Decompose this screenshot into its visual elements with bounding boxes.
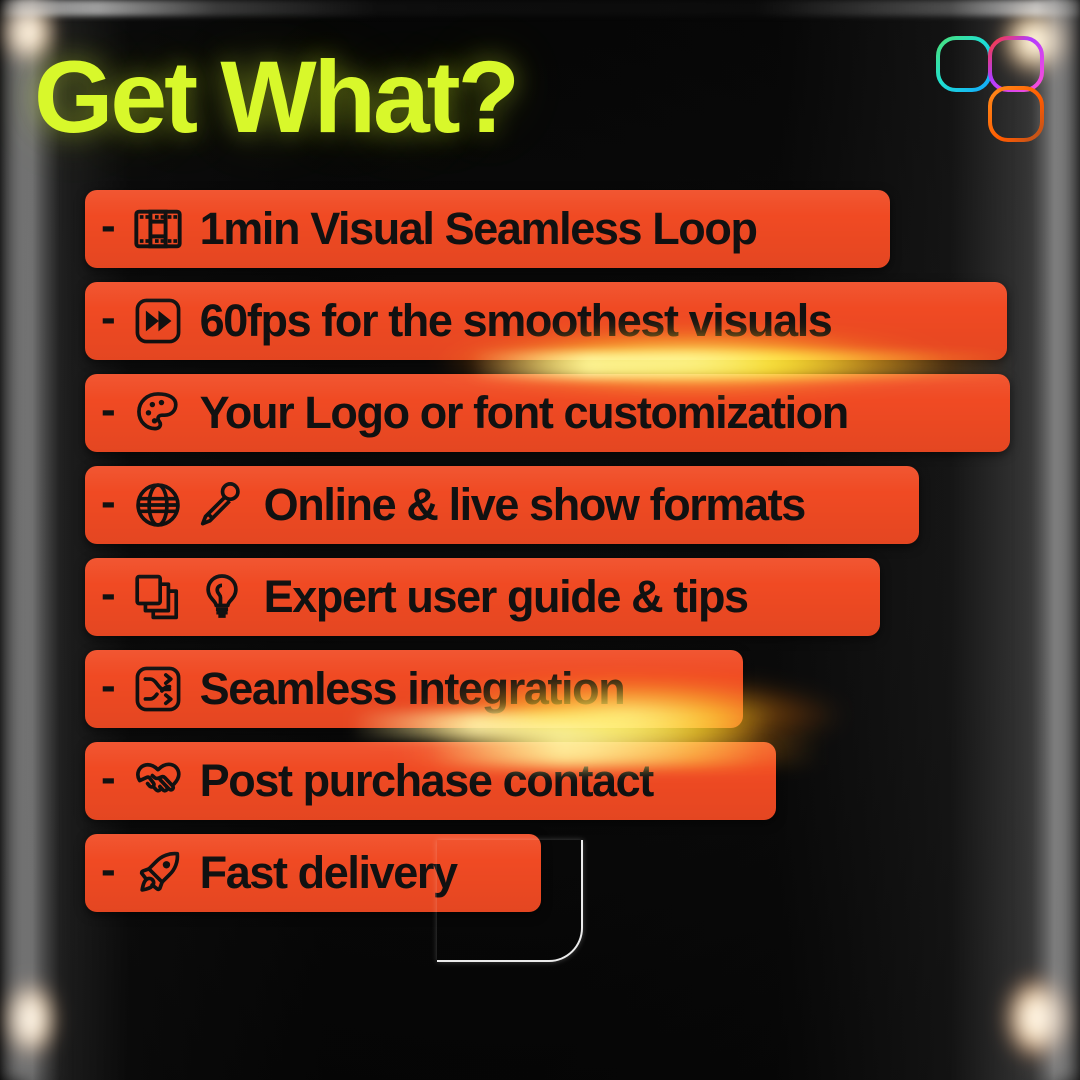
bullet-dash: - xyxy=(101,480,116,524)
feature-row[interactable]: - Post purchase contact xyxy=(85,742,776,820)
feature-label: 1min Visual Seamless Loop xyxy=(200,203,757,255)
logo-square-bottom-right xyxy=(990,88,1042,140)
row-icons xyxy=(132,755,184,807)
top-edge-streak xyxy=(0,0,1080,16)
poster-stage: Get What? xyxy=(0,0,1080,1080)
feature-list: - 1min Visual Seamless Loop- 60fps for t… xyxy=(85,190,1045,926)
feature-row[interactable]: - Seamless integration xyxy=(85,650,743,728)
feature-label: Expert user guide & tips xyxy=(264,571,748,623)
row-icons xyxy=(132,387,184,439)
row-icons xyxy=(132,295,184,347)
brand-logo xyxy=(934,32,1052,150)
glare-bottom-right xyxy=(1006,978,1066,1058)
bullet-dash: - xyxy=(101,664,116,708)
feature-row[interactable]: - Online & live show formats xyxy=(85,466,919,544)
bullet-dash: - xyxy=(101,756,116,800)
feature-label: Online & live show formats xyxy=(264,479,805,531)
feature-row[interactable]: - Your Logo or font customization xyxy=(85,374,1010,452)
glare-bottom-left xyxy=(8,984,54,1054)
handshake-icon xyxy=(132,755,184,807)
microphone-icon xyxy=(196,479,248,531)
page-title: Get What? xyxy=(34,44,517,151)
bullet-dash: - xyxy=(101,572,116,616)
logo-square-top-left xyxy=(938,38,990,90)
feature-label: Seamless integration xyxy=(200,663,625,715)
feature-label: Your Logo or font customization xyxy=(200,387,848,439)
bullet-dash: - xyxy=(101,296,116,340)
feature-label: Post purchase contact xyxy=(200,755,653,807)
feature-row[interactable]: - 1min Visual Seamless Loop xyxy=(85,190,890,268)
bullet-dash: - xyxy=(101,388,116,432)
feature-row[interactable]: - Expert user guide & tips xyxy=(85,558,880,636)
row-icons xyxy=(132,847,184,899)
row-icons xyxy=(132,479,248,531)
palette-icon xyxy=(132,387,184,439)
row-icons xyxy=(132,663,184,715)
copy-pages-icon xyxy=(132,571,184,623)
row-icons xyxy=(132,571,248,623)
film-frames-icon xyxy=(132,203,184,255)
row-icons xyxy=(132,203,184,255)
left-edge-glare-strip xyxy=(0,0,64,1080)
frame-corner-line xyxy=(437,840,583,962)
lightbulb-icon xyxy=(196,571,248,623)
feature-label: 60fps for the smoothest visuals xyxy=(200,295,832,347)
bullet-dash: - xyxy=(101,848,116,892)
fast-forward-icon xyxy=(132,295,184,347)
shuffle-icon xyxy=(132,663,184,715)
feature-label: Fast delivery xyxy=(200,847,457,899)
rocket-icon xyxy=(132,847,184,899)
bullet-dash: - xyxy=(101,204,116,248)
feature-row[interactable]: - 60fps for the smoothest visuals xyxy=(85,282,1007,360)
logo-square-top-right xyxy=(990,38,1042,90)
globe-icon xyxy=(132,479,184,531)
